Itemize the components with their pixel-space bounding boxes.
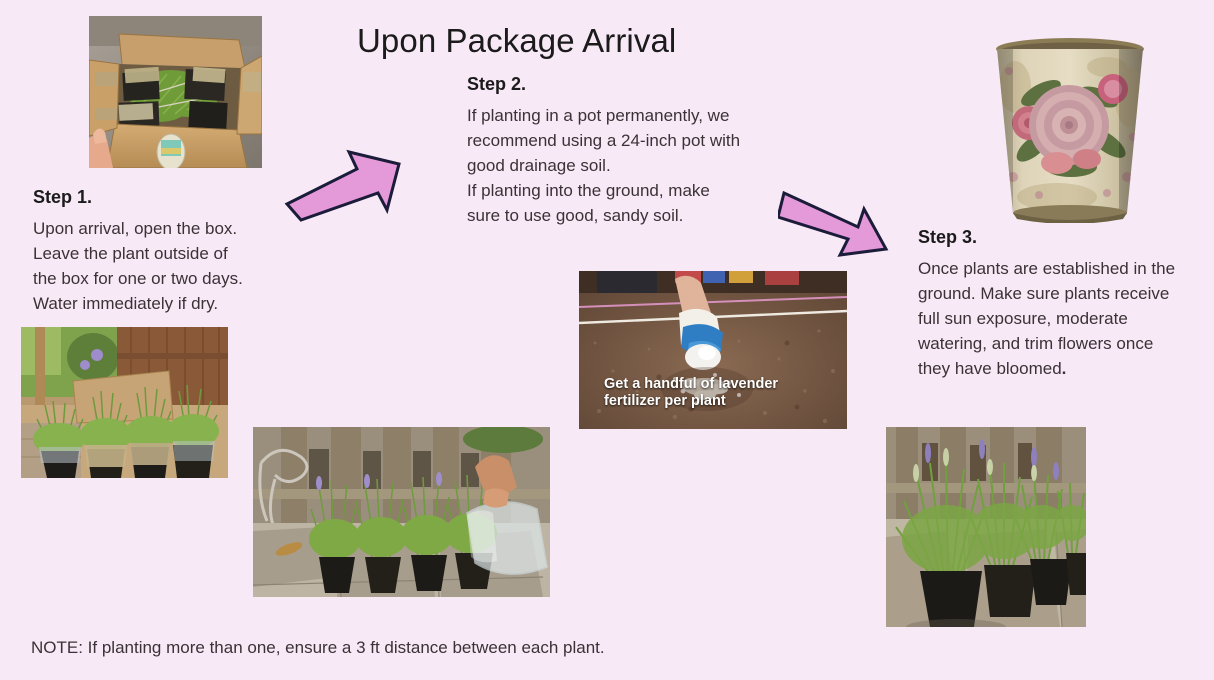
photo-vintage-floral-flower-pot	[987, 27, 1153, 223]
step-3-body-end-period: .	[1062, 359, 1067, 378]
plants-row-image	[21, 327, 228, 478]
arrow-down-right-shape	[778, 177, 890, 261]
photo-lavender-plants-closeup	[886, 427, 1086, 627]
fertilizer-soil-image	[579, 271, 847, 429]
step-1-body: Upon arrival, open the box. Leave the pl…	[33, 217, 283, 317]
photo-open-cardboard-box-with-lavender-plants	[89, 16, 262, 168]
arrow-up-right-shape	[283, 138, 405, 222]
photo-spreading-fertilizer-on-soil: Get a handful of lavender fertilizer per…	[579, 271, 847, 429]
step-3-body-main: Once plants are established in the groun…	[918, 259, 1175, 378]
note-text: NOTE: If planting more than one, ensure …	[31, 638, 605, 658]
step-3-heading: Step 3.	[918, 228, 1200, 248]
slide-canvas: Upon Package Arrival	[0, 0, 1214, 680]
step-2-body: If planting in a pot permanently, we rec…	[467, 104, 772, 229]
step-2-text-block: Step 2. If planting in a pot permanently…	[467, 75, 772, 229]
step-3-text-block: Step 3. Once plants are established in t…	[918, 228, 1200, 382]
step-3-body: Once plants are established in the groun…	[918, 257, 1200, 382]
arrow-step2-to-step3-icon	[778, 177, 890, 261]
step-1-heading: Step 1.	[33, 188, 283, 208]
photo-lavender-plants-row-on-patio	[21, 327, 228, 478]
step-1-text-block: Step 1. Upon arrival, open the box. Leav…	[33, 188, 283, 317]
open-box-image	[89, 16, 262, 168]
page-title: Upon Package Arrival	[357, 22, 676, 60]
step-2-heading: Step 2.	[467, 75, 772, 95]
arrow-step1-to-step2-icon	[283, 138, 405, 222]
flower-pot-image	[987, 27, 1153, 223]
photo-watering-lavender-plants-from-bottle	[253, 427, 550, 597]
lavender-closeup-image	[886, 427, 1086, 627]
watering-plants-image	[253, 427, 550, 597]
